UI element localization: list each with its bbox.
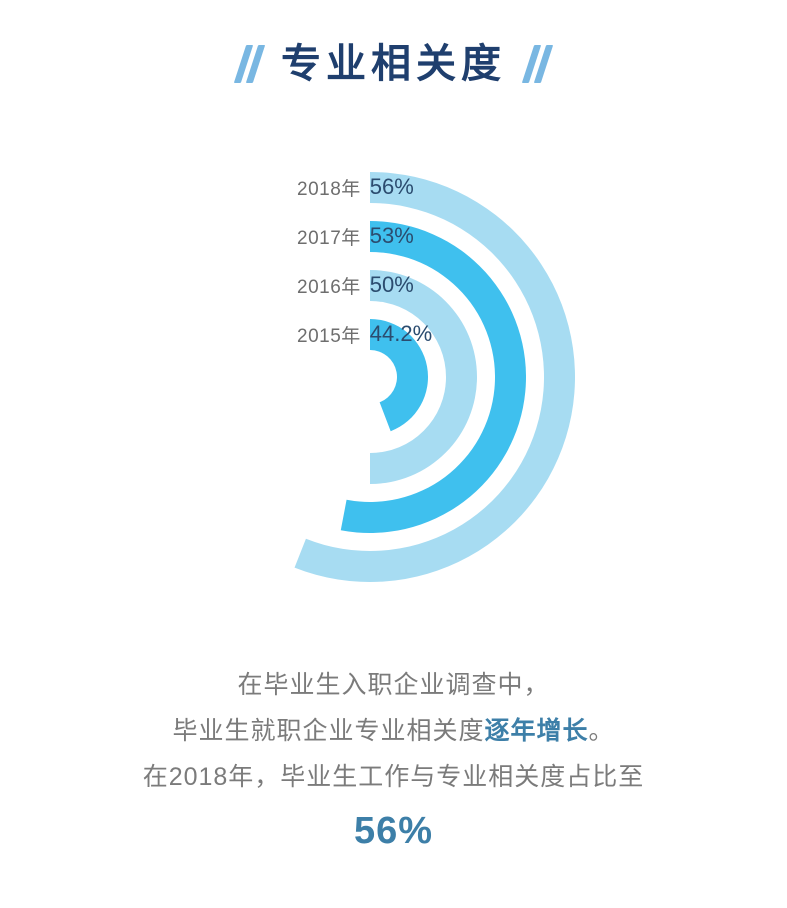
caption-line-2-pre: 毕业生就职企业专业相关度 [172, 717, 484, 745]
headline-stat: 56% [0, 810, 787, 853]
radial-bar-2015年 [370, 319, 428, 431]
caption-line-2-post: 。 [589, 717, 615, 745]
arc-group [295, 172, 575, 582]
caption-line-2: 毕业生就职企业专业相关度逐年增长。 [0, 708, 787, 754]
page-title: 专业相关度 [281, 44, 506, 84]
caption-highlight: 逐年增长 [484, 717, 588, 745]
radial-bar-2018年 [295, 172, 575, 582]
title-slash-left-icon [240, 45, 259, 83]
radial-bar-chart: 2018年 56% 2017年 53% 2016年 50% 2015年 44.2… [0, 120, 787, 640]
radial-bar-2017年 [341, 221, 526, 533]
title-slash-right-icon [528, 45, 547, 83]
caption-line-1: 在毕业生入职企业调查中， [0, 662, 787, 708]
page-title-row: 专业相关度 [0, 44, 787, 84]
radial-bar-chart-svg [0, 120, 787, 640]
caption-line-3: 在2018年，毕业生工作与专业相关度占比至 [0, 754, 787, 800]
caption-block: 在毕业生入职企业调查中， 毕业生就职企业专业相关度逐年增长。 在2018年，毕业… [0, 662, 787, 800]
